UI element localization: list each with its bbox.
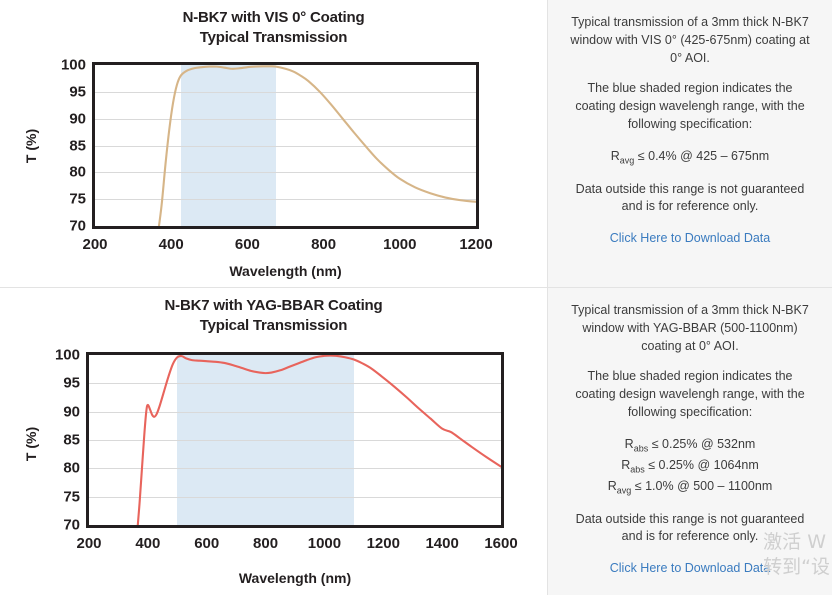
chart-pane-vis: N-BK7 with VIS 0° Coating Typical Transm… (0, 0, 548, 287)
chart-title-line1: N-BK7 with YAG-BBAR Coating (165, 297, 383, 314)
transmission-series-path (158, 66, 476, 226)
x-axis-tick-label: 800 (253, 536, 278, 551)
plot-area-yag (86, 352, 504, 528)
spec-symbol-3-yag: R (608, 479, 617, 493)
transmission-series-path (138, 356, 501, 525)
plot-area-vis (92, 62, 479, 229)
x-axis-tick-label: 800 (311, 237, 336, 252)
x-axis-tick-label: 400 (159, 237, 184, 252)
chart-title-vis: N-BK7 with VIS 0° Coating Typical Transm… (0, 0, 547, 48)
x-axis-tick-label: 200 (82, 237, 107, 252)
x-axis-tick-label: 400 (135, 536, 160, 551)
x-axis-label-vis: Wavelength (nm) (92, 263, 479, 279)
y-axis-tick-label: 75 (0, 192, 86, 207)
spec-symbol-2-yag: R (621, 458, 630, 472)
spec-subscript-vis: avg (620, 155, 635, 165)
info-paragraph-3-yag: Data outside this range is not guarantee… (566, 511, 814, 547)
x-axis-tick-label: 200 (76, 536, 101, 551)
x-axis-tick-label: 1000 (308, 536, 341, 551)
transmission-curve-vis (95, 65, 476, 226)
x-axis-label-yag: Wavelength (nm) (86, 570, 504, 586)
info-paragraph-3-vis: Data outside this range is not guarantee… (566, 181, 814, 217)
info-pane-vis: Typical transmission of a 3mm thick N-BK… (548, 0, 832, 287)
y-axis-tick-label: 100 (0, 348, 80, 363)
y-axis-tick-label: 90 (0, 111, 86, 126)
y-axis-tick-label: 85 (0, 433, 80, 448)
spec-symbol-vis: R (611, 149, 620, 163)
chart-title-line2: Typical Transmission (0, 316, 547, 336)
y-axis-label-yag: T (%) (23, 427, 39, 461)
spec-line-vis: Ravg ≤ 0.4% @ 425 – 675nm (566, 147, 814, 168)
chart-title-yag: N-BK7 with YAG-BBAR Coating Typical Tran… (0, 288, 547, 336)
x-axis-tick-label: 600 (235, 237, 260, 252)
spec-subscript-2-yag: abs (630, 464, 645, 474)
x-axis-tick-label: 1200 (459, 237, 492, 252)
spec-subscript-3-yag: avg (617, 485, 632, 495)
y-axis-tick-label: 95 (0, 84, 86, 99)
x-axis-tick-label: 1000 (383, 237, 416, 252)
x-axis-tick-label: 1600 (484, 536, 517, 551)
y-axis-label-vis: T (%) (23, 129, 39, 163)
y-axis-tick-label: 70 (0, 518, 80, 533)
x-axis-tick-label: 1400 (425, 536, 458, 551)
chart-title-line2: Typical Transmission (0, 28, 547, 48)
chart-pane-yag: N-BK7 with YAG-BBAR Coating Typical Tran… (0, 288, 548, 595)
spec-lines-yag: Rabs ≤ 0.25% @ 532nm Rabs ≤ 0.25% @ 1064… (566, 435, 814, 498)
y-axis-tick-label: 75 (0, 489, 80, 504)
page-root: N-BK7 with VIS 0° Coating Typical Transm… (0, 0, 832, 595)
chart-panel-vis: N-BK7 with VIS 0° Coating Typical Transm… (0, 0, 832, 288)
download-data-link-vis[interactable]: Click Here to Download Data (610, 231, 771, 245)
y-axis-tick-label: 80 (0, 461, 80, 476)
download-data-link-yag[interactable]: Click Here to Download Data (610, 561, 771, 575)
spec-symbol-1-yag: R (625, 437, 634, 451)
spec-value-3-yag: ≤ 1.0% @ 500 – 1100nm (631, 479, 772, 493)
transmission-curve-yag (89, 355, 501, 525)
y-axis-tick-label: 90 (0, 404, 80, 419)
y-axis-tick-label: 80 (0, 165, 86, 180)
info-pane-yag: Typical transmission of a 3mm thick N-BK… (548, 288, 832, 595)
watermark-line-2: 转到“设 (763, 555, 830, 581)
info-paragraph-1-vis: Typical transmission of a 3mm thick N-BK… (566, 14, 814, 67)
x-axis-tick-label: 600 (194, 536, 219, 551)
y-axis-tick-label: 85 (0, 138, 86, 153)
y-axis-tick-label: 70 (0, 219, 86, 234)
info-paragraph-2-vis: The blue shaded region indicates the coa… (566, 80, 814, 133)
chart-title-line1: N-BK7 with VIS 0° Coating (183, 9, 365, 26)
spec-subscript-1-yag: abs (634, 443, 649, 453)
x-axis-tick-label: 1200 (367, 536, 400, 551)
spec-value-vis: ≤ 0.4% @ 425 – 675nm (634, 149, 769, 163)
chart-panel-yag: N-BK7 with YAG-BBAR Coating Typical Tran… (0, 288, 832, 595)
spec-value-2-yag: ≤ 0.25% @ 1064nm (645, 458, 759, 472)
y-axis-tick-label: 95 (0, 376, 80, 391)
info-paragraph-1-yag: Typical transmission of a 3mm thick N-BK… (566, 302, 814, 355)
y-axis-tick-label: 100 (0, 58, 86, 73)
info-paragraph-2-yag: The blue shaded region indicates the coa… (566, 368, 814, 421)
spec-value-1-yag: ≤ 0.25% @ 532nm (648, 437, 755, 451)
